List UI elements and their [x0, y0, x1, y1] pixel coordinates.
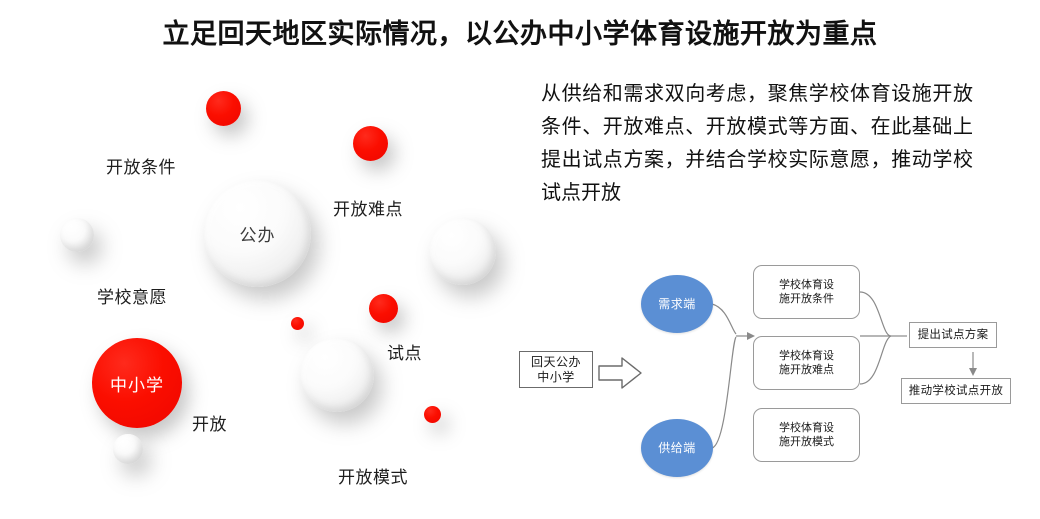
- bubble-red-dot-mid: [369, 294, 398, 323]
- flow-aspect-mode-line2: 施开放模式: [779, 435, 834, 449]
- flow-aspect-condition-line1: 学校体育设: [779, 278, 834, 292]
- flow-outcome-promote-label: 推动学校试点开放: [909, 384, 1003, 398]
- label-shidian: 试点: [387, 339, 422, 364]
- label-kaifang-tiaojian: 开放条件: [106, 153, 176, 178]
- flow-ellipse-supply-label: 供给端: [658, 441, 696, 455]
- description-paragraph: 从供给和需求双向考虑，聚焦学校体育设施开放条件、开放难点、开放模式等方面、在此基…: [541, 78, 973, 210]
- flow-aspect-condition-line2: 施开放条件: [779, 292, 834, 306]
- bubble-red-small-top: [206, 91, 241, 126]
- bubble-red-dot-bottom: [424, 406, 441, 423]
- bubble-gongban: 公办: [204, 180, 311, 287]
- flow-diagram: 回天公办 中小学 需求端 供给端 学校体育设 施开放条件 学校体育设 施开放难点…: [505, 258, 1040, 513]
- flow-aspect-mode: 学校体育设 施开放模式: [753, 408, 860, 462]
- flow-ellipse-demand: 需求端: [641, 275, 713, 333]
- bubble-zhongxiaoxue: 中小学: [92, 338, 182, 428]
- flow-ellipse-supply: 供给端: [641, 419, 713, 477]
- bubble-cloud: 公办 中小学 开放条件 开放难点 学校意愿 试点 开放 开放模式: [0, 60, 520, 519]
- bubble-white-right-mid: [429, 218, 496, 285]
- flow-aspect-difficulty-line1: 学校体育设: [779, 349, 834, 363]
- bubble-white-tiny-bottom: [113, 434, 143, 464]
- flow-aspect-difficulty: 学校体育设 施开放难点: [753, 336, 860, 390]
- label-xuexiao-yiyuan: 学校意愿: [97, 283, 167, 308]
- flow-outcome-proposal-label: 提出试点方案: [918, 328, 989, 342]
- block-arrow-icon: [599, 358, 641, 388]
- flow-outcome-proposal: 提出试点方案: [909, 322, 997, 348]
- label-kaifang: 开放: [192, 410, 227, 435]
- flow-ellipse-demand-label: 需求端: [658, 297, 696, 311]
- bubble-red-small-right: [353, 126, 388, 161]
- flow-aspect-difficulty-line2: 施开放难点: [779, 363, 834, 377]
- flow-source-box: 回天公办 中小学: [519, 351, 593, 388]
- bubble-red-dot-small: [291, 317, 304, 330]
- bubble-white-tiny-left: [60, 218, 94, 252]
- flow-outcome-promote: 推动学校试点开放: [901, 378, 1011, 404]
- label-kaifang-nandian: 开放难点: [333, 195, 403, 220]
- bubble-white-mid-low: [300, 338, 374, 412]
- flow-aspect-condition: 学校体育设 施开放条件: [753, 265, 860, 319]
- label-kaifang-moshi: 开放模式: [338, 463, 408, 488]
- flow-source-line1: 回天公办: [531, 355, 581, 370]
- bubble-gongban-label: 公办: [240, 221, 276, 246]
- page-title: 立足回天地区实际情况，以公办中小学体育设施开放为重点: [0, 12, 1040, 51]
- flow-source-line2: 中小学: [537, 370, 575, 385]
- bubble-zhongxiaoxue-label: 中小学: [110, 371, 164, 396]
- flow-aspect-mode-line1: 学校体育设: [779, 421, 834, 435]
